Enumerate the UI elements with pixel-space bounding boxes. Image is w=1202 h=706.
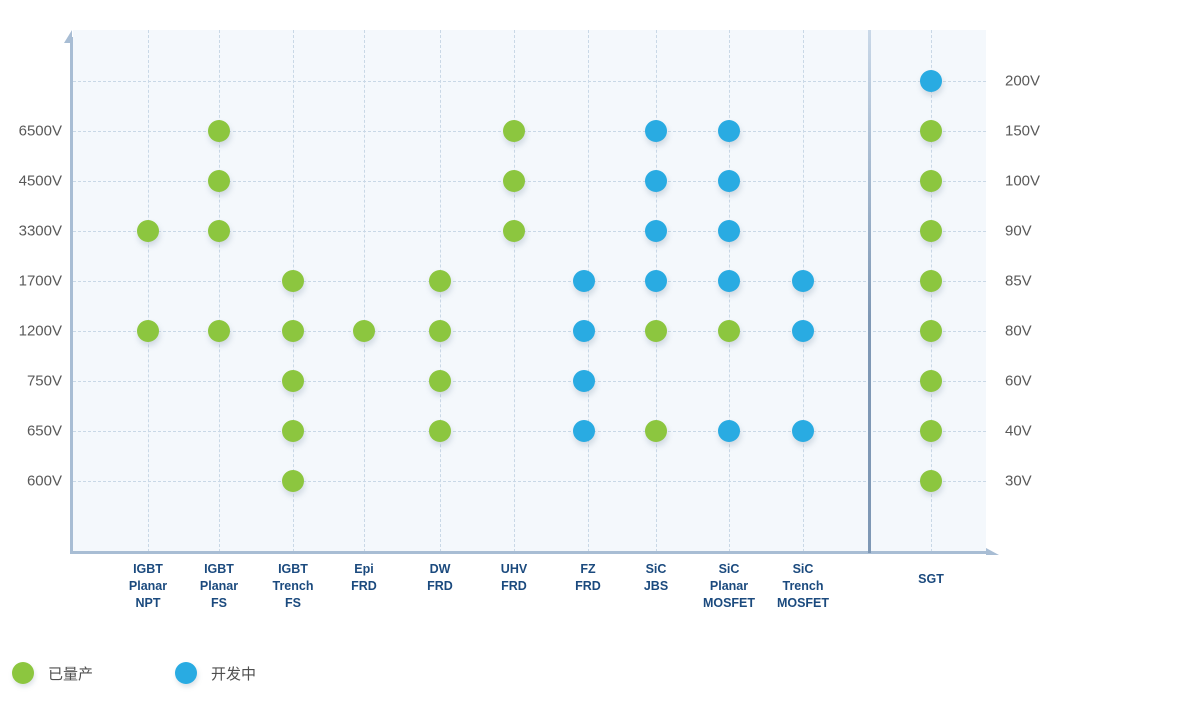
y-axis-right-tick-label: 30V <box>1005 474 1032 489</box>
x-axis-label-line: MOSFET <box>777 595 829 612</box>
y-axis-right-tick-label: 90V <box>1005 224 1032 239</box>
data-point-developing[interactable] <box>573 370 595 392</box>
gridline-vertical <box>148 30 149 552</box>
gridline-vertical <box>364 30 365 552</box>
y-axis-left-tick-label: 650V <box>0 424 62 439</box>
x-axis-category-label: UHVFRD <box>501 561 527 595</box>
legend-swatch-developing-icon <box>175 662 197 684</box>
data-point-developing[interactable] <box>718 270 740 292</box>
y-axis-right-tick-label: 200V <box>1005 74 1040 89</box>
x-axis-label-line: MOSFET <box>703 595 755 612</box>
x-axis-category-label: SiCPlanarMOSFET <box>703 561 755 612</box>
data-point-produced[interactable] <box>282 320 304 342</box>
data-point-developing[interactable] <box>718 420 740 442</box>
x-axis-label-line: FRD <box>501 578 527 595</box>
data-point-produced[interactable] <box>718 320 740 342</box>
y-axis-left-tick-labels: 6500V4500V3300V1700V1200V750V650V600V <box>0 0 62 706</box>
y-axis-left-tick-label: 750V <box>0 374 62 389</box>
x-axis-label-line: IGBT <box>273 561 314 578</box>
x-axis-label-line: Trench <box>273 578 314 595</box>
data-point-produced[interactable] <box>282 420 304 442</box>
gridline-vertical <box>514 30 515 552</box>
data-point-developing[interactable] <box>792 420 814 442</box>
data-point-produced[interactable] <box>920 270 942 292</box>
x-axis-label-line: FZ <box>575 561 601 578</box>
x-axis-category-label: IGBTPlanarFS <box>200 561 238 612</box>
data-point-developing[interactable] <box>645 220 667 242</box>
data-point-developing[interactable] <box>718 170 740 192</box>
y-axis-right-tick-label: 100V <box>1005 174 1040 189</box>
y-axis-arrow-icon <box>64 30 72 43</box>
chart-root: 6500V4500V3300V1700V1200V750V650V600V 20… <box>0 0 1202 706</box>
x-axis-category-label: IGBTPlanarNPT <box>129 561 167 612</box>
legend-item-developing[interactable]: 开发中 <box>175 662 256 684</box>
data-point-produced[interactable] <box>503 120 525 142</box>
x-axis-label-line: FS <box>200 595 238 612</box>
data-point-produced[interactable] <box>920 170 942 192</box>
y-axis-left-tick-label: 4500V <box>0 174 62 189</box>
legend-item-produced[interactable]: 已量产 <box>12 662 93 684</box>
x-axis-category-label: SGT <box>918 571 944 588</box>
data-point-produced[interactable] <box>920 320 942 342</box>
data-point-developing[interactable] <box>718 220 740 242</box>
gridline-horizontal <box>73 431 986 432</box>
data-point-developing[interactable] <box>573 320 595 342</box>
x-axis-label-line: FRD <box>427 578 453 595</box>
x-axis-label-line: SGT <box>918 571 944 588</box>
data-point-developing[interactable] <box>573 420 595 442</box>
x-axis-category-label: FZFRD <box>575 561 601 595</box>
x-axis-category-label: SiCJBS <box>644 561 668 595</box>
gridline-horizontal <box>73 381 986 382</box>
data-point-developing[interactable] <box>920 70 942 92</box>
data-point-produced[interactable] <box>920 420 942 442</box>
y-axis-line <box>70 37 73 554</box>
x-axis-category-label: SiCTrenchMOSFET <box>777 561 829 612</box>
x-axis-label-line: IGBT <box>129 561 167 578</box>
x-axis-label-line: SiC <box>644 561 668 578</box>
data-point-produced[interactable] <box>645 420 667 442</box>
x-axis-label-line: Epi <box>351 561 377 578</box>
data-point-produced[interactable] <box>208 220 230 242</box>
x-axis-label-line: Trench <box>777 578 829 595</box>
data-point-produced[interactable] <box>208 170 230 192</box>
column-group-separator <box>868 30 871 553</box>
y-axis-right-tick-label: 80V <box>1005 324 1032 339</box>
legend-label: 开发中 <box>211 663 256 684</box>
data-point-produced[interactable] <box>429 270 451 292</box>
x-axis-category-label: DWFRD <box>427 561 453 595</box>
data-point-produced[interactable] <box>920 120 942 142</box>
x-axis-label-line: FRD <box>575 578 601 595</box>
x-axis-label-line: SiC <box>777 561 829 578</box>
data-point-produced[interactable] <box>429 370 451 392</box>
data-point-developing[interactable] <box>718 120 740 142</box>
x-axis-label-line: Planar <box>200 578 238 595</box>
plot-area <box>73 30 986 552</box>
legend-label: 已量产 <box>48 663 93 684</box>
data-point-developing[interactable] <box>645 270 667 292</box>
y-axis-left-tick-label: 600V <box>0 474 62 489</box>
x-axis-category-label: EpiFRD <box>351 561 377 595</box>
y-axis-right-tick-label: 150V <box>1005 124 1040 139</box>
y-axis-left-tick-label: 3300V <box>0 224 62 239</box>
data-point-developing[interactable] <box>792 270 814 292</box>
y-axis-left-tick-label: 1200V <box>0 324 62 339</box>
x-axis-category-label: IGBTTrenchFS <box>273 561 314 612</box>
data-point-produced[interactable] <box>208 120 230 142</box>
x-axis-label-line: IGBT <box>200 561 238 578</box>
y-axis-left-tick-label: 6500V <box>0 124 62 139</box>
data-point-produced[interactable] <box>137 320 159 342</box>
x-axis-label-line: NPT <box>129 595 167 612</box>
data-point-developing[interactable] <box>645 120 667 142</box>
gridline-vertical <box>219 30 220 552</box>
y-axis-right-tick-labels: 200V150V100V90V85V80V60V40V30V <box>1005 0 1125 706</box>
x-axis-label-line: Planar <box>129 578 167 595</box>
data-point-produced[interactable] <box>208 320 230 342</box>
data-point-produced[interactable] <box>503 220 525 242</box>
legend-swatch-produced-icon <box>12 662 34 684</box>
data-point-produced[interactable] <box>920 220 942 242</box>
data-point-produced[interactable] <box>137 220 159 242</box>
data-point-produced[interactable] <box>503 170 525 192</box>
data-point-developing[interactable] <box>792 320 814 342</box>
chart-legend: 已量产开发中 <box>12 660 338 686</box>
x-axis-label-line: FRD <box>351 578 377 595</box>
y-axis-left-tick-label: 1700V <box>0 274 62 289</box>
data-point-produced[interactable] <box>429 420 451 442</box>
x-axis-label-line: JBS <box>644 578 668 595</box>
data-point-produced[interactable] <box>429 320 451 342</box>
x-axis-label-line: SiC <box>703 561 755 578</box>
data-point-produced[interactable] <box>282 370 304 392</box>
data-point-produced[interactable] <box>353 320 375 342</box>
x-axis-label-line: DW <box>427 561 453 578</box>
gridline-horizontal <box>73 81 986 82</box>
x-axis-label-line: FS <box>273 595 314 612</box>
gridline-horizontal <box>73 281 986 282</box>
data-point-produced[interactable] <box>282 270 304 292</box>
data-point-produced[interactable] <box>920 370 942 392</box>
data-point-developing[interactable] <box>573 270 595 292</box>
data-point-produced[interactable] <box>282 470 304 492</box>
data-point-produced[interactable] <box>920 470 942 492</box>
x-axis-line <box>70 551 986 554</box>
data-point-developing[interactable] <box>645 170 667 192</box>
gridline-horizontal <box>73 481 986 482</box>
x-axis-label-line: UHV <box>501 561 527 578</box>
x-axis-label-line: Planar <box>703 578 755 595</box>
y-axis-right-tick-label: 40V <box>1005 424 1032 439</box>
data-point-produced[interactable] <box>645 320 667 342</box>
x-axis-arrow-icon <box>986 548 999 555</box>
y-axis-right-tick-label: 85V <box>1005 274 1032 289</box>
y-axis-right-tick-label: 60V <box>1005 374 1032 389</box>
